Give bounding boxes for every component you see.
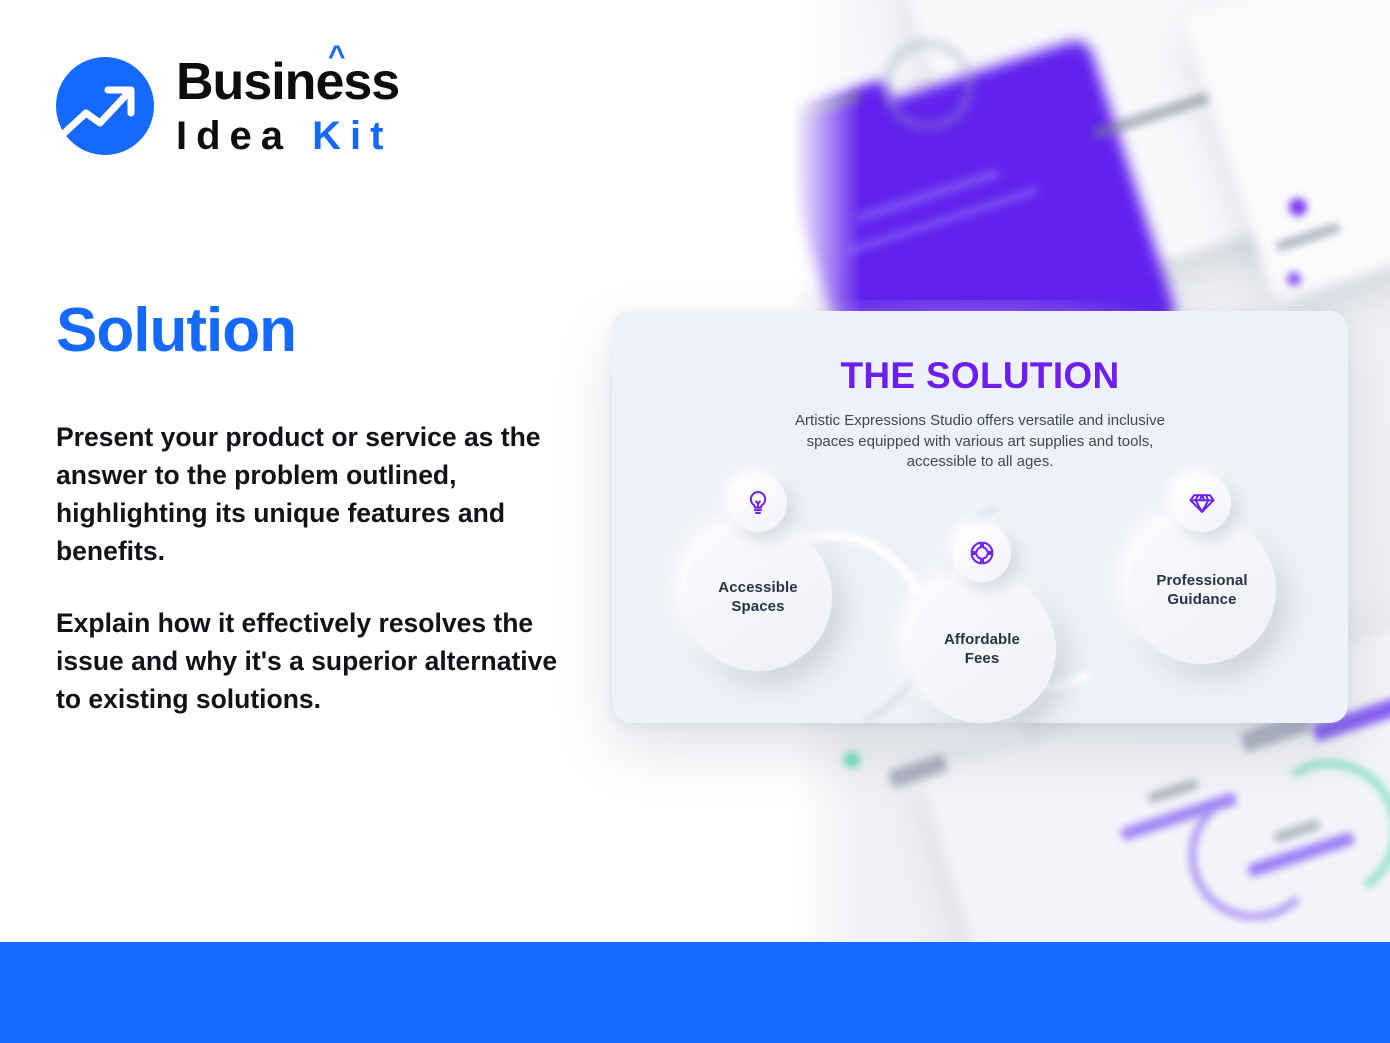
brand-name-top: Business ^ [176,56,399,108]
brand-name-bottom: Idea Kit [176,116,399,156]
node-label: Professional Guidance [1156,571,1247,609]
brand-name-top-text: Business [176,53,399,111]
node-label-line2: Fees [965,650,1000,667]
page-title: Solution [56,295,296,366]
bg-dot [1287,272,1301,286]
node-label-line2: Spaces [731,598,784,615]
lightbulb-icon [729,474,787,532]
brand-wordmark: Business ^ Idea Kit [176,56,399,156]
brand-kit-text: Kit [312,114,392,158]
brand-caret-icon: ^ [328,42,345,72]
donut-chart-icon [953,524,1011,582]
node-label-line1: Professional [1156,572,1247,589]
body-paragraph-1: Present your product or service as the a… [56,418,586,570]
solution-node-affordable-fees[interactable]: Affordable Fees [908,575,1056,723]
solution-node-professional-guidance[interactable]: Professional Guidance [1128,516,1276,664]
growth-arrow-icon [56,57,154,155]
node-network: Accessible Spaces Affordable Fees Profes… [612,311,1348,723]
node-label: Accessible Spaces [718,578,797,616]
slide-root: Business ^ Idea Kit Solution Present you… [0,0,1390,1043]
node-label-line1: Affordable [944,631,1020,648]
footer-band [0,942,1390,1043]
bg-ring [883,40,973,130]
brand-logo: Business ^ Idea Kit [56,56,399,156]
body-paragraph-2: Explain how it effectively resolves the … [56,604,586,718]
diamond-icon [1173,474,1231,532]
solution-node-accessible-spaces[interactable]: Accessible Spaces [684,523,832,671]
node-label-line1: Accessible [718,579,797,596]
node-label-line2: Guidance [1167,591,1236,608]
solution-card: THE SOLUTION Artistic Expressions Studio… [612,311,1348,723]
bg-dot [843,752,859,768]
brand-idea-text: Idea [176,114,312,158]
bg-dot [1289,198,1307,216]
body-copy: Present your product or service as the a… [56,418,586,718]
node-label: Affordable Fees [944,630,1020,668]
